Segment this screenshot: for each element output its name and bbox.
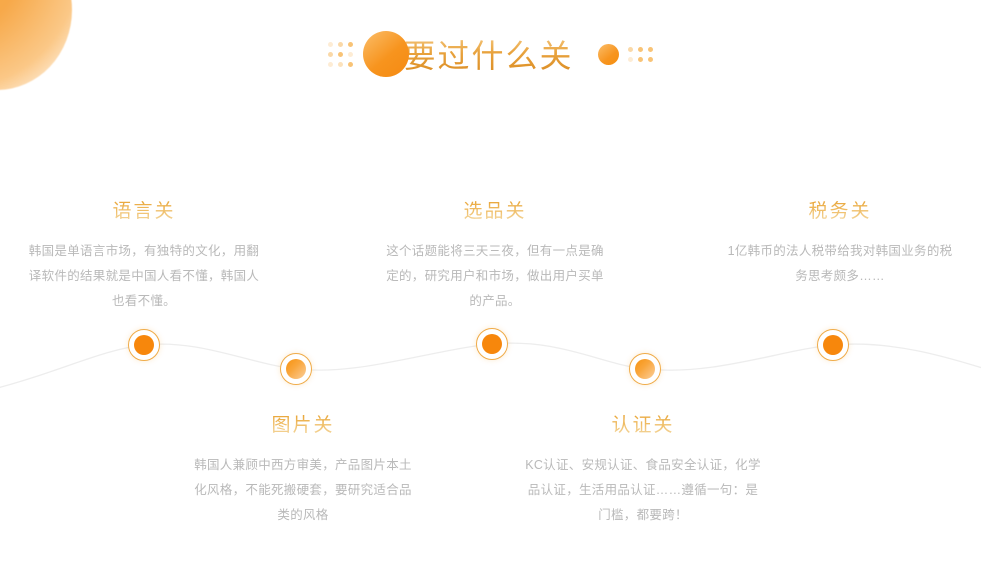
section-title-certification: 认证关 <box>523 410 763 437</box>
section-title-image: 图片关 <box>188 410 418 437</box>
section-body-image: 韩国人兼顾中西方审美，产品图片本土化风格，不能死搬硬套，要研究适合品类的风格 <box>188 453 418 528</box>
section-title-language: 语言关 <box>28 196 260 223</box>
section-image: 图片关 韩国人兼顾中西方审美，产品图片本土化风格，不能死搬硬套，要研究适合品类的… <box>188 410 418 528</box>
title-right-ball-icon <box>598 44 619 65</box>
section-language: 语言关 韩国是单语言市场，有独特的文化，用翻译软件的结果就是中国人看不懂，韩国人… <box>28 196 260 314</box>
timeline-marker-image[interactable] <box>280 353 312 385</box>
timeline-marker-certification[interactable] <box>629 353 661 385</box>
section-body-tax: 1亿韩币的法人税带给我对韩国业务的税务思考颇多…… <box>725 239 955 289</box>
left-dot-grid-icon <box>328 42 353 67</box>
section-body-selection: 这个话题能将三天三夜，但有一点是确定的，研究用户和市场，做出用户买单的产品。 <box>382 239 608 314</box>
slide-title-row: 要过什么关 <box>0 22 981 86</box>
timeline-marker-selection[interactable] <box>476 328 508 360</box>
section-selection: 选品关 这个话题能将三天三夜，但有一点是确定的，研究用户和市场，做出用户买单的产… <box>382 196 608 314</box>
section-body-certification: KC认证、安规认证、食品安全认证，化学品认证，生活用品认证……遵循一句：是门槛，… <box>523 453 763 528</box>
section-tax: 税务关 1亿韩币的法人税带给我对韩国业务的税务思考颇多…… <box>725 196 955 289</box>
timeline-marker-tax[interactable] <box>817 329 849 361</box>
section-body-language: 韩国是单语言市场，有独特的文化，用翻译软件的结果就是中国人看不懂，韩国人也看不懂… <box>28 239 260 314</box>
page-title: 要过什么关 <box>403 31 573 77</box>
section-certification: 认证关 KC认证、安规认证、食品安全认证，化学品认证，生活用品认证……遵循一句：… <box>523 410 763 528</box>
section-title-selection: 选品关 <box>382 196 608 223</box>
slide-canvas: 要过什么关 语言关 韩国是单语言市场，有独特的文化，用翻译软件的结果就是中国人看… <box>0 0 981 585</box>
right-dot-grid-icon <box>628 47 653 62</box>
timeline-marker-language[interactable] <box>128 329 160 361</box>
section-title-tax: 税务关 <box>725 196 955 223</box>
